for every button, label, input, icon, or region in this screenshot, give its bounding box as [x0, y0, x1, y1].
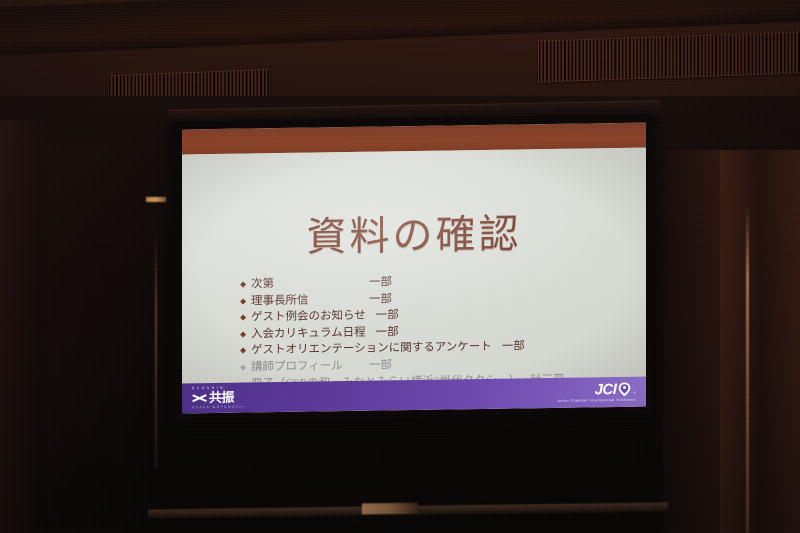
wall-light-spot [146, 197, 166, 202]
list-item-label: 講師プロフィール [251, 357, 359, 375]
kyoshin-logo-kanji: 共振 [209, 391, 234, 404]
list-item-quantity: 一部 [376, 306, 399, 322]
wall-edge-highlight-left [155, 228, 157, 468]
diamond-bullet-icon: ◆ [240, 347, 251, 355]
kyoshin-logo: KYOSHIN 共振 OSAKA MOTOMACHI [192, 386, 246, 409]
list-item-label: 入会カリキュラム日程 [251, 323, 366, 341]
list-item-quantity: 一部 [369, 356, 392, 372]
jci-logo-subtitle: Junior Chamber International Yokohama [557, 399, 636, 404]
kyoshin-logo-mark: 共振 [192, 391, 234, 405]
photo-conference-room-slide: 資料の確認 ◆ 次第 一部 ◆ 理事長所信 一部 ◆ ゲスト例会のお知らせ 一部 [0, 0, 800, 533]
jci-logo-mark: JCI ® [595, 382, 636, 398]
list-item-quantity: 一部 [369, 273, 392, 289]
kyoshin-cross-icon [192, 393, 207, 404]
kyoshin-logo-subtext: OSAKA MOTOMACHI [192, 406, 246, 410]
diamond-bullet-icon: ◆ [240, 330, 251, 338]
diamond-bullet-icon: ◆ [240, 363, 251, 371]
jci-shield-icon [618, 382, 631, 397]
wall-panel-right-outer [764, 150, 800, 533]
list-item-quantity: 一部 [376, 323, 399, 339]
slide-bullet-list: ◆ 次第 一部 ◆ 理事長所信 一部 ◆ ゲスト例会のお知らせ 一部 ◆ 入会カ… [240, 270, 632, 392]
list-item-label: 次第 [251, 274, 359, 292]
projection-screen-bottom-clip [362, 503, 418, 515]
kyoshin-logo-romaji: KYOSHIN [192, 387, 225, 391]
jci-logo: JCI ® Junior Chamber International Yokoh… [557, 382, 636, 404]
diamond-bullet-icon: ◆ [240, 314, 251, 322]
wall-edge-highlight-right [746, 205, 749, 533]
list-item-label: ゲスト例会のお知らせ [251, 307, 366, 325]
list-item-label: 理事長所信 [251, 290, 359, 308]
wall-panel-left-outer [0, 120, 46, 533]
wall-panel-right-inner [662, 150, 720, 533]
jci-trademark-symbol: ® [633, 392, 636, 395]
diamond-bullet-icon: ◆ [240, 297, 251, 305]
wall-panel-left-inner [46, 140, 151, 533]
list-item-quantity: 一部 [502, 338, 525, 354]
diamond-bullet-icon: ◆ [240, 280, 251, 288]
slide-title: 資料の確認 [182, 200, 646, 265]
slide-canvas: 資料の確認 ◆ 次第 一部 ◆ 理事長所信 一部 ◆ ゲスト例会のお知らせ 一部 [182, 148, 646, 414]
jci-wordmark: JCI [595, 382, 617, 397]
list-item-quantity: 一部 [369, 290, 392, 306]
projected-slide: 資料の確認 ◆ 次第 一部 ◆ 理事長所信 一部 ◆ ゲスト例会のお知らせ 一部 [182, 123, 646, 414]
wall-panel-right-mid [720, 150, 764, 533]
